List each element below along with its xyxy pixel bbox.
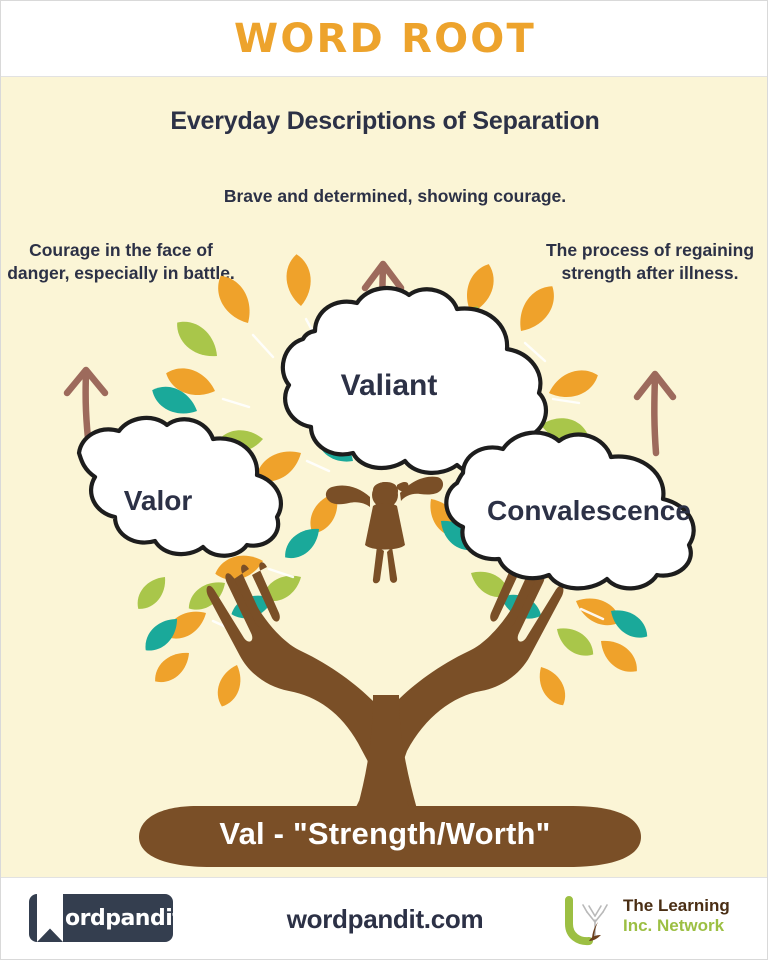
partner-line-2: Inc. Network bbox=[623, 916, 730, 936]
infographic-page: WORD ROOT Everyday Descriptions of Separ… bbox=[0, 0, 768, 960]
wordpandit-logo[interactable]: ordpandit bbox=[29, 894, 173, 942]
partner-line-1: The Learning bbox=[623, 896, 730, 916]
bookmark-icon bbox=[37, 894, 63, 942]
tree-illustration bbox=[1, 1, 768, 960]
arrow-convalescence bbox=[637, 374, 673, 453]
wordpandit-logo-text: ordpandit bbox=[65, 894, 173, 942]
tree-swoosh-icon bbox=[561, 894, 621, 946]
learning-network-logo[interactable]: The Learning Inc. Network bbox=[561, 894, 747, 946]
footer-band: wordpandit.com ordpandit The Learning In… bbox=[1, 877, 768, 959]
root-banner bbox=[139, 806, 641, 867]
girl-silhouette bbox=[326, 477, 443, 584]
learning-network-text: The Learning Inc. Network bbox=[623, 896, 730, 935]
